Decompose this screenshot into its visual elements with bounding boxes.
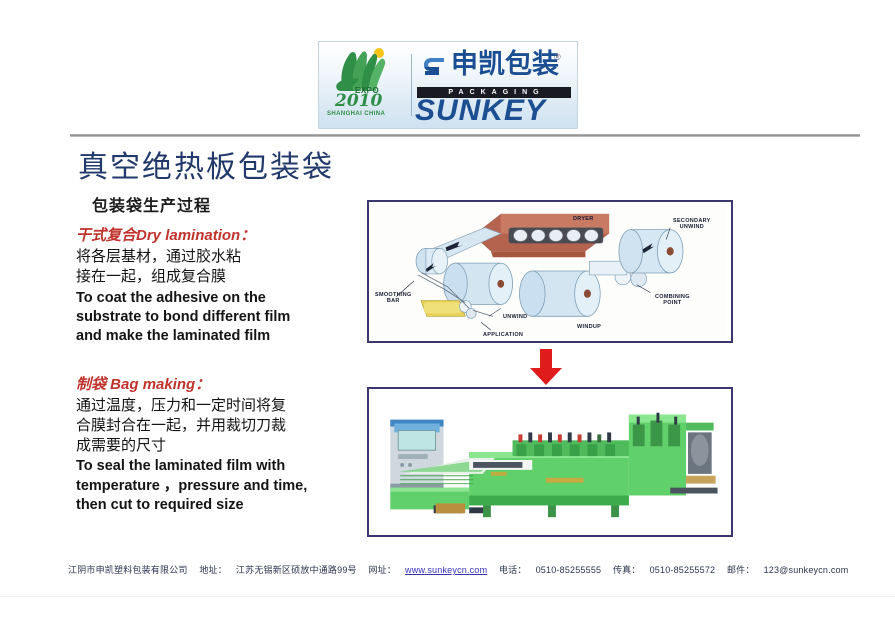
- diagram-label: WINDUP: [577, 324, 601, 330]
- diagram-label: COMBINING POINT: [655, 294, 690, 307]
- diagram-label: DRYER: [573, 216, 594, 222]
- dry-lamination-process-diagram: DRYER SECONDARY UNWIND COMBINING POINT W…: [373, 206, 727, 337]
- footer-contact-bar: 江阴市申凯塑料包装有限公司 地址：江苏无锡新区硕放中通路99号 网址：www.s…: [68, 563, 858, 576]
- expo-2010-logo: EXPO 2010 SHANGHAI CHINA: [319, 43, 411, 127]
- body-en-line: temperature ，pressure and time,: [76, 477, 348, 496]
- diagram-label: SECONDARY UNWIND: [673, 218, 711, 231]
- body-cn-line: 成需要的尺寸: [76, 436, 348, 456]
- section-body-cn: 通过温度，压力和一定时间将复 合膜封合在一起，并用裁切刀裁 成需要的尺寸: [76, 396, 348, 455]
- footer-website-link[interactable]: www.sunkeycn.com: [405, 565, 487, 575]
- section-body-cn: 将各层基材，通过胶水粘 接在一起，组成复合膜: [76, 247, 348, 287]
- bag-making-machine-photo: [373, 393, 727, 531]
- body-cn-line: 通过温度，压力和一定时间将复: [76, 396, 348, 416]
- footer-address: 江苏无锡新区硕放中通路99号: [236, 565, 357, 575]
- sunkey-wordmark: SUNKEY: [415, 96, 546, 126]
- slide-canvas: EXPO 2010 SHANGHAI CHINA 申凯包装 ® PACKAGIN…: [0, 0, 895, 631]
- footer-web-label: 网址：: [368, 565, 396, 575]
- footer-mail-label: 邮件：: [727, 565, 755, 575]
- section-heading-en: Bag making: [106, 376, 195, 393]
- body-en-line: To coat the adhesive on the: [76, 289, 348, 308]
- body-en-line: substrate to bond different film: [76, 308, 348, 327]
- body-cn-line: 接在一起，组成复合膜: [76, 267, 348, 287]
- body-en-line: then cut to required size: [76, 496, 348, 515]
- body-en-line: To seal the laminated film with: [76, 457, 348, 476]
- footer-address-label: 地址：: [199, 565, 227, 575]
- diagram-label: APPLICATION: [483, 332, 523, 337]
- logo-divider: [411, 54, 412, 116]
- section-heading-cn: 干式复合: [76, 227, 136, 244]
- section-dry-lamination: 干式复合Dry lamination： 将各层基材，通过胶水粘 接在一起，组成复…: [76, 224, 348, 346]
- section-heading: 干式复合Dry lamination：: [76, 224, 348, 245]
- sunkey-logo: 申凯包装 ® PACKAGING SUNKEY: [415, 43, 577, 127]
- company-logo-band: EXPO 2010 SHANGHAI CHINA 申凯包装 ® PACKAGIN…: [318, 41, 578, 129]
- section-heading-punct: ：: [195, 376, 210, 393]
- section-heading-en: Dry lamination: [136, 227, 240, 244]
- section-heading-punct: ：: [240, 227, 255, 244]
- sunkey-chinese-name: 申凯包装: [451, 51, 559, 78]
- title-divider-rule: [70, 134, 860, 137]
- sunkey-s-swirl-icon: [421, 55, 447, 81]
- diagram-label: SMOOTHING BAR: [375, 292, 412, 305]
- section-bag-making: 制袋 Bag making： 通过温度，压力和一定时间将复 合膜封合在一起，并用…: [76, 373, 348, 515]
- body-cn-line: 合膜封合在一起，并用裁切刀裁: [76, 416, 348, 436]
- footer-email: 123@sunkeycn.com: [764, 565, 849, 575]
- section-heading: 制袋 Bag making：: [76, 373, 348, 394]
- footer-company: 江阴市申凯塑料包装有限公司: [68, 565, 188, 575]
- footer-tel-label: 电话：: [499, 565, 527, 575]
- section-body-en: To coat the adhesive on the substrate to…: [76, 289, 348, 346]
- footer-divider: [0, 596, 895, 597]
- expo-year-label: 2010: [335, 91, 382, 111]
- footer-tel: 0510-85255555: [536, 565, 602, 575]
- diagram-label: UNWIND: [503, 314, 527, 320]
- section-body-en: To seal the laminated film with temperat…: [76, 457, 348, 514]
- expo-city-label: SHANGHAI CHINA: [327, 111, 385, 117]
- dry-lamination-diagram-frame: DRYER SECONDARY UNWIND COMBINING POINT W…: [367, 200, 733, 343]
- registered-trademark-icon: ®: [554, 52, 561, 62]
- body-en-line: and make the laminated film: [76, 327, 348, 346]
- bag-making-photo-frame: [367, 387, 733, 537]
- section-heading-cn: 制袋: [76, 376, 106, 393]
- page-title: 真空绝热板包装袋: [78, 142, 334, 186]
- footer-fax-label: 传真：: [613, 565, 641, 575]
- page-subtitle: 包装袋生产过程: [92, 192, 211, 216]
- down-arrow-icon: [529, 349, 563, 385]
- bag-machine-art: [373, 393, 727, 531]
- body-cn-line: 将各层基材，通过胶水粘: [76, 247, 348, 267]
- footer-fax: 0510-85255572: [650, 565, 716, 575]
